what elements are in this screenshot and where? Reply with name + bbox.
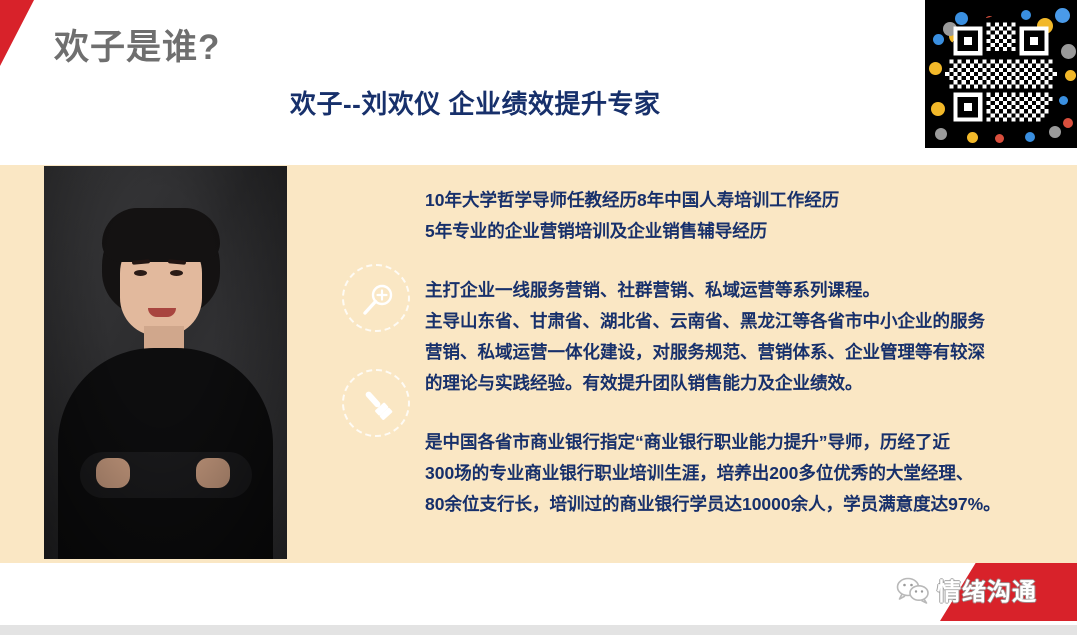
- bio-text: 10年大学哲学导师任教经历8年中国人寿培训工作经历 5年专业的企业营销培训及企业…: [425, 185, 1065, 520]
- bio-line: 主打企业一线服务营销、社群营销、私域运营等系列课程。: [425, 275, 1065, 306]
- watermark-label: 情绪沟通: [937, 572, 1037, 607]
- slide-canvas: 欢子是谁? 欢子--刘欢仪 企业绩效提升专家: [0, 0, 1077, 635]
- qr-deco-dot: [1063, 118, 1073, 128]
- watermark: 情绪沟通: [896, 572, 1037, 607]
- magnifier-zoom-in-icon: [342, 264, 410, 332]
- bio-line: 主导山东省、甘肃省、湖北省、云南省、黑龙江等各省市中小企业的服务: [425, 306, 1065, 337]
- corner-accent-cutout: [0, 72, 17, 132]
- brush-icon: [342, 369, 410, 437]
- qr-code-matrix: [941, 14, 1061, 134]
- qr-deco-dot: [995, 134, 1004, 143]
- corner-accent-triangle: [0, 0, 34, 66]
- bio-line: 的理论与实践经验。有效提升团队销售能力及企业绩效。: [425, 368, 1065, 399]
- qr-code-icon[interactable]: [925, 0, 1077, 148]
- brush-glyph: [358, 385, 398, 425]
- portrait-vignette: [44, 166, 287, 559]
- bio-line: 5年专业的企业营销培训及企业销售辅导经历: [425, 216, 1065, 247]
- qr-deco-dot: [1061, 44, 1076, 59]
- magnifier-glyph: [358, 280, 398, 320]
- paragraph-gap: [425, 399, 1065, 427]
- page-subtitle: 欢子--刘欢仪 企业绩效提升专家: [290, 84, 661, 121]
- bio-line: 80余位支行长，培训过的商业银行学员达10000余人，学员满意度达97%。: [425, 489, 1065, 520]
- qr-deco-dot: [1065, 70, 1076, 81]
- wechat-icon: [896, 576, 930, 604]
- bio-line: 300场的专业商业银行职业培训生涯，培养出200多位优秀的大堂经理、: [425, 458, 1065, 489]
- paragraph-gap: [425, 247, 1065, 275]
- page-title: 欢子是谁?: [54, 27, 220, 69]
- bottom-strip: [0, 625, 1077, 635]
- bio-line: 营销、私域运营一体化建设，对服务规范、营销体系、企业管理等有较深: [425, 337, 1065, 368]
- bio-line: 是中国各省市商业银行指定“商业银行职业能力提升”导师，历经了近: [425, 427, 1065, 458]
- speaker-portrait-photo: [44, 166, 287, 559]
- bio-line: 10年大学哲学导师任教经历8年中国人寿培训工作经历: [425, 185, 1065, 216]
